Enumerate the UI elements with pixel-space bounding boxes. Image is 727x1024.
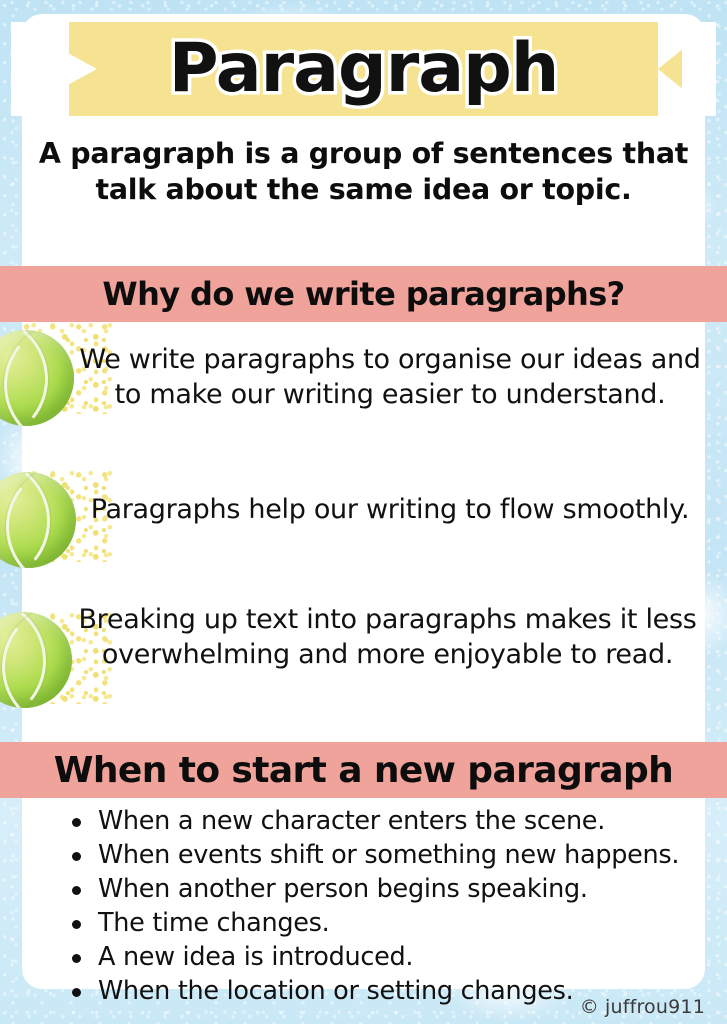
paragraph-poster: Paragraph A paragraph is a group of sent… — [0, 0, 727, 1024]
tennis-ball-icon — [0, 472, 76, 568]
list-item: The time changes. — [72, 906, 727, 940]
body-paragraph: Paragraphs help our writing to flow smoo… — [70, 492, 710, 527]
credit-name: juffrou911 — [605, 996, 705, 1018]
tennis-ball-icon — [0, 330, 74, 426]
when-to-start-list: When a new character enters the scene. W… — [44, 804, 727, 1008]
section-header-why: Why do we write paragraphs? — [0, 266, 727, 322]
list-item: When events shift or something new happe… — [72, 838, 727, 872]
list-item: When another person begins speaking. — [72, 872, 727, 906]
section-header-when: When to start a new paragraph — [0, 742, 727, 798]
intro-definition: A paragraph is a group of sentences that… — [22, 136, 705, 209]
title-banner: Paragraph — [0, 22, 727, 116]
body-paragraph: We write paragraphs to organise our idea… — [70, 342, 710, 412]
section-header-why-label: Why do we write paragraphs? — [0, 275, 727, 313]
section-header-when-label: When to start a new paragraph — [0, 750, 727, 791]
credit-footer: © juffrou911 — [580, 996, 705, 1018]
page-title: Paragraph — [0, 22, 727, 116]
body-paragraph: Breaking up text into paragraphs makes i… — [60, 602, 715, 672]
list-item: A new idea is introduced. — [72, 940, 727, 974]
list-item: When a new character enters the scene. — [72, 804, 727, 838]
copyright-icon: © — [580, 996, 599, 1018]
